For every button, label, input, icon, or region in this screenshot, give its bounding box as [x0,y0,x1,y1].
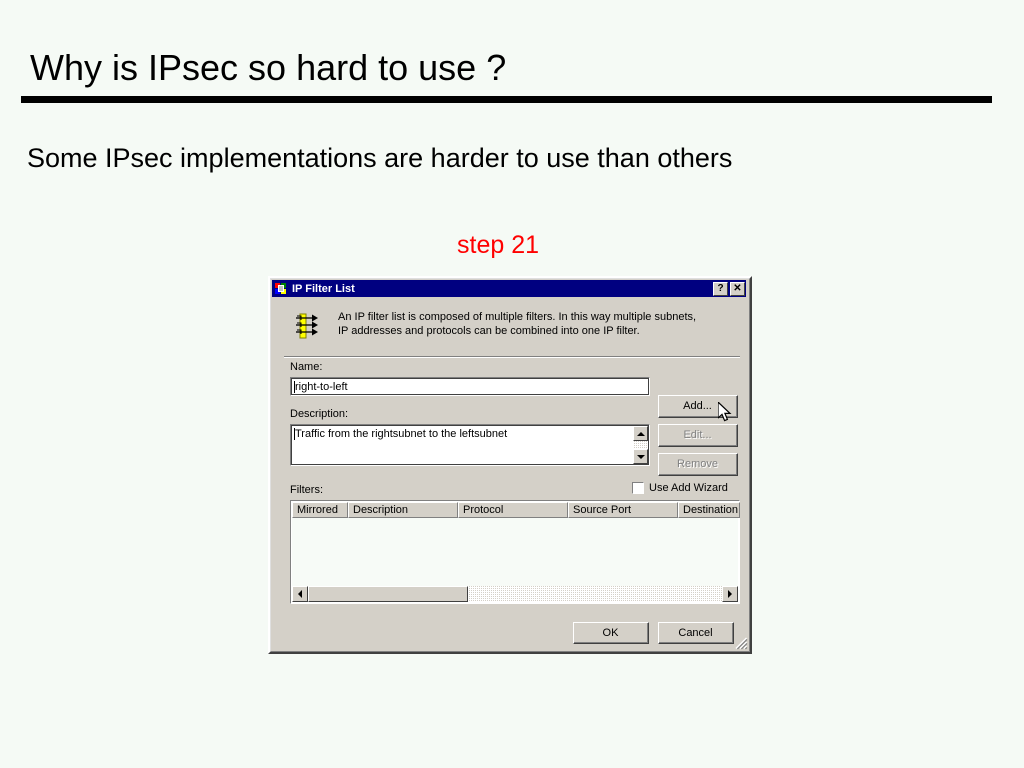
column-header-description[interactable]: Description [348,502,458,518]
filters-listview[interactable]: Mirrored Description Protocol Source Por… [290,500,740,604]
hscroll-thumb[interactable] [308,586,468,602]
filters-label: Filters: [290,484,323,496]
close-icon[interactable]: ✕ [730,282,745,296]
remove-button-label: Remove [659,454,737,475]
use-add-wizard-label: Use Add Wizard [649,482,728,494]
add-button[interactable]: Add... [658,395,738,418]
header-divider [284,356,740,358]
use-add-wizard-checkbox[interactable]: Use Add Wizard [632,482,728,494]
remove-button[interactable]: Remove [658,453,738,476]
description-input-value: Traffic from the rightsubnet to the left… [295,428,507,440]
scroll-left-icon[interactable] [292,586,308,602]
column-header-protocol[interactable]: Protocol [458,502,568,518]
dialog-description-text: An IP filter list is composed of multipl… [338,310,703,338]
add-button-label: Add... [659,396,737,417]
scroll-right-icon[interactable] [722,586,738,602]
listview-horizontal-scrollbar[interactable] [292,586,738,602]
ip-filter-list-icon [274,282,288,295]
title-divider [21,96,992,103]
scroll-up-icon[interactable] [633,426,648,441]
dialog-titlebar[interactable]: IP Filter List ? ✕ [272,280,746,297]
description-input[interactable]: Traffic from the rightsubnet to the left… [290,424,650,466]
slide-subtitle: Some IPsec implementations are harder to… [27,143,732,174]
edit-button[interactable]: Edit... [658,424,738,447]
edit-button-label: Edit... [659,425,737,446]
vscroll-track[interactable] [633,441,648,449]
checkbox-box[interactable] [632,482,644,494]
help-button[interactable]: ? [713,282,728,296]
name-input[interactable]: right-to-left [290,377,650,396]
dialog-title: IP Filter List [292,283,711,295]
description-vertical-scrollbar[interactable] [633,426,648,464]
name-input-value: right-to-left [295,381,348,393]
step-label: step 21 [457,231,539,260]
ok-button[interactable]: OK [573,622,649,644]
ok-button-label: OK [574,623,648,643]
column-header-destination[interactable]: Destination [678,502,740,518]
cancel-button-label: Cancel [659,623,733,643]
scroll-down-icon[interactable] [633,449,648,464]
column-header-mirrored[interactable]: Mirrored [292,502,348,518]
ip-filter-list-dialog: IP Filter List ? ✕ An IP filter list [268,276,752,654]
listview-header: Mirrored Description Protocol Source Por… [292,502,738,518]
column-header-source-port[interactable]: Source Port [568,502,678,518]
description-label: Description: [290,408,348,420]
name-label: Name: [290,361,322,373]
resize-grip-icon[interactable] [734,636,748,650]
listview-body[interactable] [292,518,738,588]
filter-list-icon [292,310,324,342]
cancel-button[interactable]: Cancel [658,622,734,644]
page-title: Why is IPsec so hard to use ? [30,47,506,89]
